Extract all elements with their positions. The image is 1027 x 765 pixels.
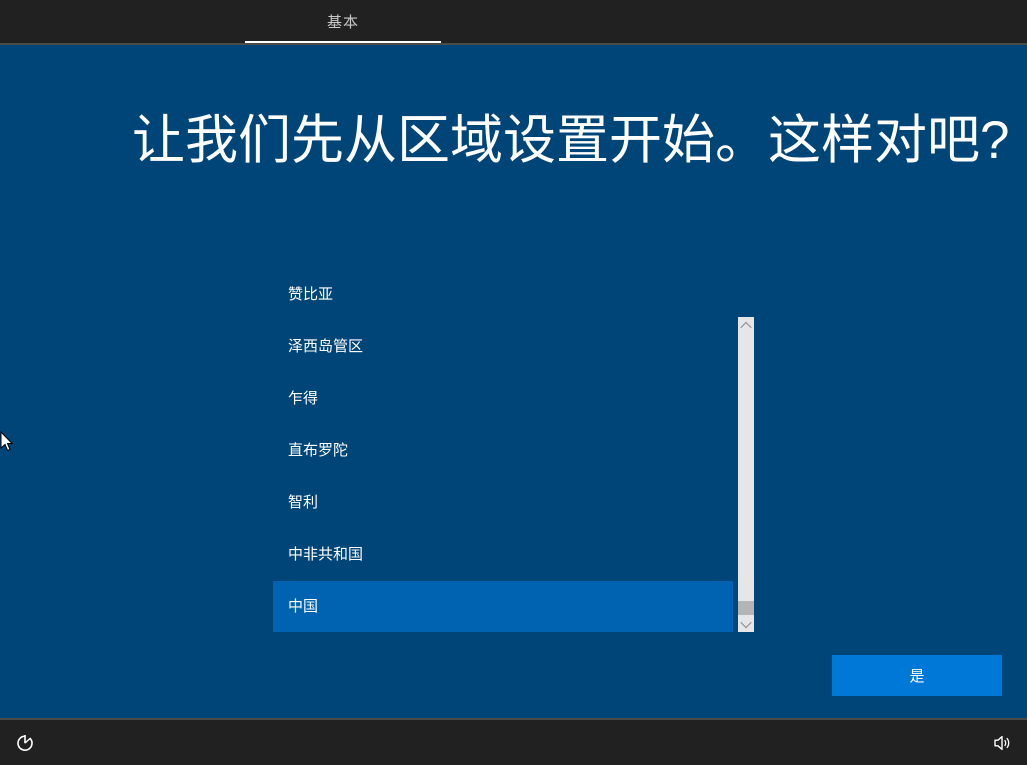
bottom-bar — [0, 720, 1027, 765]
region-list[interactable]: 赞比亚 泽西岛管区 乍得 直布罗陀 智利 中非共和国 中国 — [273, 269, 733, 632]
volume-icon[interactable] — [989, 730, 1015, 756]
list-item-label: 泽西岛管区 — [288, 338, 363, 355]
list-item[interactable]: 中非共和国 — [273, 529, 733, 581]
list-item-label: 乍得 — [288, 390, 318, 407]
list-item-label: 中国 — [288, 598, 318, 615]
scrollbar-thumb[interactable] — [738, 601, 754, 615]
page-title: 让我们先从区域设置开始。这样对吧? — [132, 111, 962, 172]
content-area: 让我们先从区域设置开始。这样对吧? 赞比亚 泽西岛管区 乍得 直布罗陀 智利 — [0, 45, 1027, 718]
ease-of-access-icon[interactable] — [12, 730, 38, 756]
list-item[interactable]: 乍得 — [273, 373, 733, 425]
chevron-up-glyph — [740, 321, 751, 332]
list-item[interactable]: 赞比亚 — [273, 269, 733, 321]
list-item-label: 直布罗陀 — [288, 442, 348, 459]
top-bar: 基本 — [0, 0, 1027, 43]
yes-button[interactable]: 是 — [832, 655, 1002, 696]
list-item-label: 中非共和国 — [288, 546, 363, 563]
list-item[interactable]: 直布罗陀 — [273, 425, 733, 477]
list-item[interactable]: 泽西岛管区 — [273, 321, 733, 373]
chevron-up-icon[interactable] — [738, 317, 754, 334]
oobe-screen: 基本 让我们先从区域设置开始。这样对吧? 赞比亚 泽西岛管区 乍得 直布罗陀 — [0, 0, 1027, 765]
tab-basic-label: 基本 — [327, 11, 359, 32]
list-item-label: 智利 — [288, 494, 318, 511]
tab-basic[interactable]: 基本 — [245, 0, 441, 43]
list-item[interactable]: 智利 — [273, 477, 733, 529]
chevron-down-glyph — [740, 616, 751, 627]
region-list-scrollbar[interactable] — [738, 317, 754, 632]
list-item-selected[interactable]: 中国 — [273, 581, 733, 632]
list-item-label: 赞比亚 — [288, 286, 333, 303]
chevron-down-icon[interactable] — [738, 615, 754, 632]
yes-button-label: 是 — [909, 665, 924, 686]
region-list-container: 赞比亚 泽西岛管区 乍得 直布罗陀 智利 中非共和国 中国 — [273, 269, 753, 632]
